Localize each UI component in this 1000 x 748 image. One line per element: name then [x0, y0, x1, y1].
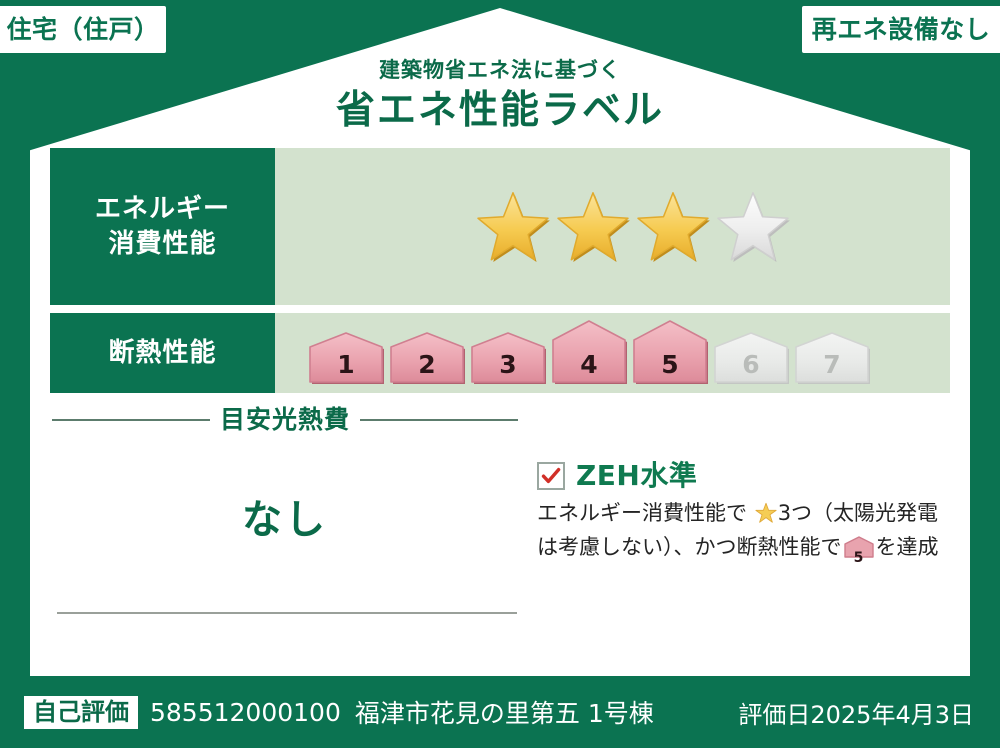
insulation-performance-value: 1234567	[275, 313, 950, 393]
zeh-standard-block: ZEH水準 エネルギー消費性能で 3つ（太陽光発電は考慮しない）、かつ断熱性能で…	[537, 462, 949, 567]
insulation-performance-row: 断熱性能 1234567	[50, 313, 950, 393]
grade-number: 1	[307, 352, 385, 377]
energy-cost-heading: 目安光熱費	[52, 407, 518, 432]
energy-label-line2: 消費性能	[108, 229, 216, 259]
grade-badge-number: 5	[844, 551, 874, 565]
badge-renewable-equipment: 再エネ設備なし	[802, 6, 1000, 53]
certificate-id: 585512000100	[150, 698, 341, 727]
label-title-block: 建築物省エネ法に基づく 省エネ性能ラベル	[0, 58, 1000, 136]
star-icon	[475, 189, 551, 265]
zeh-description: エネルギー消費性能で 3つ（太陽光発電は考慮しない）、かつ断熱性能で 5を達成	[537, 499, 949, 567]
title-subtitle: 建築物省エネ法に基づく	[0, 58, 1000, 83]
star-icon	[555, 189, 631, 265]
grade-house-1: 1	[307, 330, 385, 388]
star-icon	[715, 189, 791, 265]
energy-performance-label: 住宅（住戸） 再エネ設備なし 建築物省エネ法に基づく 省エネ性能ラベル エネルギ…	[0, 0, 1000, 748]
footer-bar: 自己評価 585512000100 福津市花見の里第五 1号棟 評価日2025年…	[0, 676, 1000, 748]
divider-right	[360, 419, 518, 421]
grade-scale: 1234567	[307, 318, 871, 388]
zeh-desc-part4: を達成	[876, 535, 939, 559]
property-address: 福津市花見の里第五 1号棟	[355, 694, 654, 730]
self-evaluation-badge: 自己評価	[24, 696, 138, 729]
insulation-performance-label: 断熱性能	[50, 313, 275, 393]
grade-badge-inline: 5	[844, 536, 874, 567]
grade-number: 6	[712, 352, 790, 377]
grade-house-6: 6	[712, 330, 790, 388]
grade-house-5: 5	[631, 318, 709, 388]
zeh-heading: ZEH水準	[537, 462, 949, 490]
grade-number: 2	[388, 352, 466, 377]
grade-number: 3	[469, 352, 547, 377]
grade-number: 7	[793, 352, 871, 377]
grade-house-3: 3	[469, 330, 547, 388]
zeh-desc-part1: エネルギー消費性能で	[537, 501, 747, 525]
checkmark-icon	[537, 462, 565, 490]
grade-house-7: 7	[793, 330, 871, 388]
grade-number: 4	[550, 352, 628, 377]
evaluation-date: 評価日2025年4月3日	[738, 695, 974, 730]
footer-content: 自己評価 585512000100 福津市花見の里第五 1号棟 評価日2025年…	[0, 694, 1000, 730]
star-icon	[635, 189, 711, 265]
zeh-desc-part2: 3つ（太陽光発電	[778, 501, 938, 525]
zeh-title: ZEH水準	[576, 462, 697, 490]
grade-house-4: 4	[550, 318, 628, 388]
grade-house-2: 2	[388, 330, 466, 388]
badge-building-type: 住宅（住戸）	[0, 6, 166, 53]
energy-label-line1: エネルギー	[95, 194, 230, 224]
divider-left	[52, 419, 210, 421]
star-icon-inline	[748, 505, 777, 529]
energy-performance-label: エネルギー 消費性能	[50, 148, 275, 305]
page-title: 省エネ性能ラベル	[0, 87, 1000, 136]
energy-cost-title: 目安光熱費	[220, 407, 350, 432]
energy-performance-value	[275, 148, 950, 305]
energy-cost-value: なし	[52, 487, 518, 545]
zeh-desc-part3: は考慮しない）、かつ断熱性能で	[537, 535, 842, 559]
grade-number: 5	[631, 352, 709, 377]
star-rating	[475, 189, 791, 265]
energy-performance-row: エネルギー 消費性能	[50, 148, 950, 305]
energy-cost-bottom-divider	[57, 612, 517, 614]
